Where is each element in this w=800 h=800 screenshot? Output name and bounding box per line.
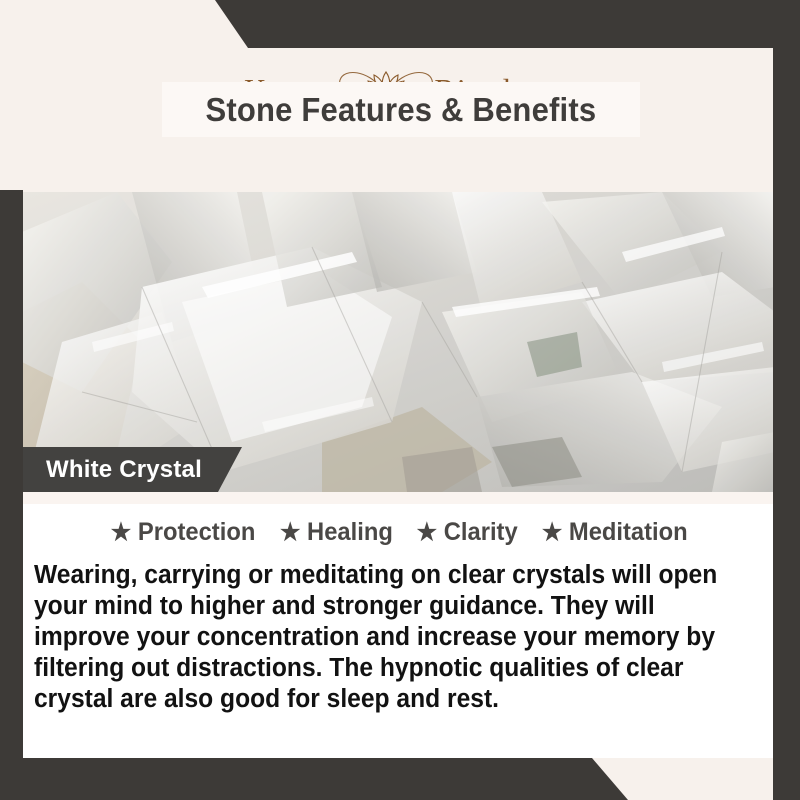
content-panel: ★ Protection ★ Healing ★ Clarity ★ Medit… xyxy=(23,492,775,758)
benefit-item: ★ Protection xyxy=(102,518,264,547)
star-icon: ★ xyxy=(542,521,562,545)
photo-caption-banner: White Crystal xyxy=(22,447,242,492)
benefit-item: ★ Healing xyxy=(271,518,401,547)
benefit-item: ★ Clarity xyxy=(408,518,526,547)
benefit-label: Protection xyxy=(137,518,254,547)
benefit-label: Clarity xyxy=(443,518,517,547)
benefit-label: Healing xyxy=(307,518,393,547)
title-plate: Stone Features & Benefits xyxy=(162,82,640,137)
frame-top-band xyxy=(0,0,800,48)
frame-right-band xyxy=(773,0,800,800)
benefit-label: Meditation xyxy=(569,518,688,547)
benefits-list: ★ Protection ★ Healing ★ Clarity ★ Medit… xyxy=(23,518,775,547)
star-icon: ★ xyxy=(416,521,436,545)
frame-bottom-band xyxy=(0,758,800,800)
description-paragraph: Wearing, carrying or meditating on clear… xyxy=(34,560,730,715)
photo-caption-label: White Crystal xyxy=(22,456,202,484)
star-icon: ★ xyxy=(280,521,300,545)
page-title: Stone Features & Benefits xyxy=(206,91,597,129)
benefit-item: ★ Meditation xyxy=(533,518,696,547)
frame-left-band xyxy=(0,190,23,800)
poster-root: White Crystal Karma xyxy=(0,0,800,800)
star-icon: ★ xyxy=(110,521,130,545)
